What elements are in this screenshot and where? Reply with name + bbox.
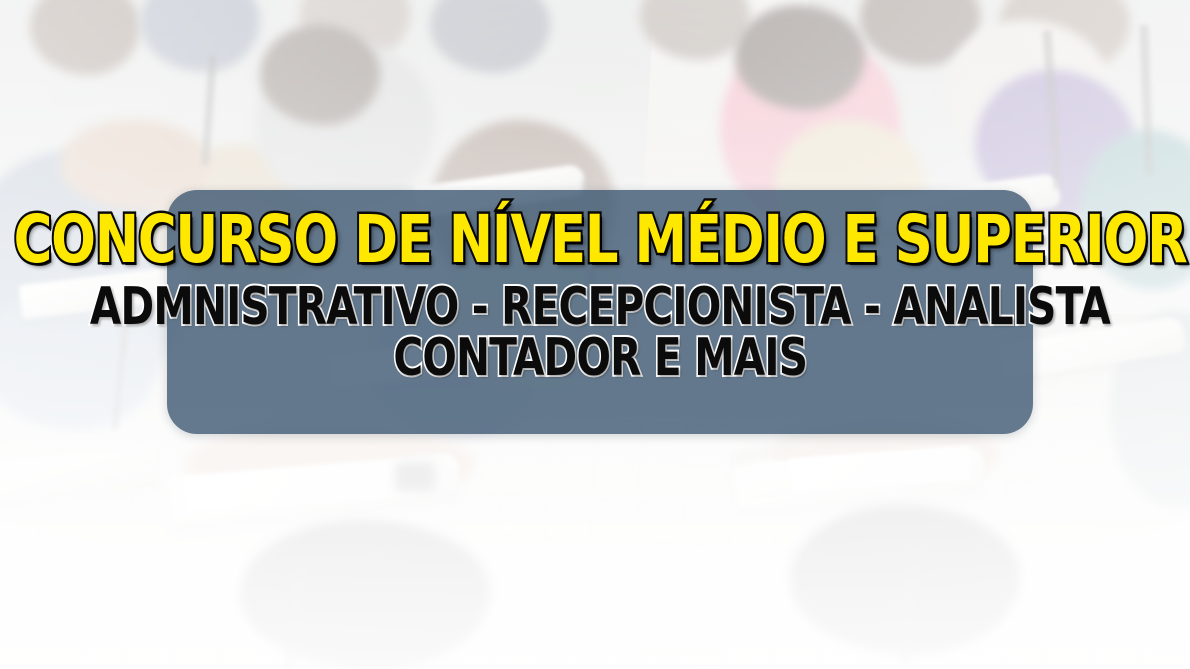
banner-subline-more: CONTADOR E MAIS (393, 332, 807, 385)
banner-headline: CONCURSO DE NÍVEL MÉDIO E SUPERIOR (14, 208, 1187, 271)
banner-subline-roles: ADMNISTRATIVO - RECEPCIONISTA - ANALISTA (90, 281, 1110, 334)
headline-overlay-panel: CONCURSO DE NÍVEL MÉDIO E SUPERIOR ADMNI… (167, 190, 1033, 434)
promo-banner: CONCURSO DE NÍVEL MÉDIO E SUPERIOR ADMNI… (0, 0, 1190, 669)
